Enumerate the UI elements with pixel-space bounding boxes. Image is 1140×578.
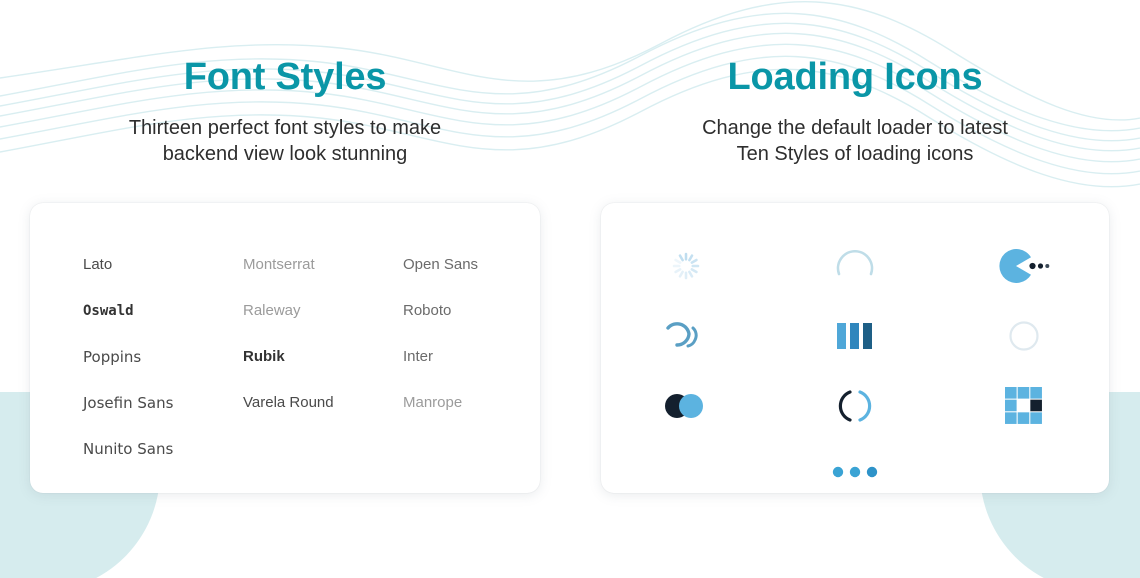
font-styles-card: Lato Montserrat Open Sans Oswald Raleway… <box>30 203 540 493</box>
font-item-montserrat[interactable]: Montserrat <box>243 256 403 273</box>
font-item-nunito-sans[interactable]: Nunito Sans <box>83 440 243 458</box>
two-circles-loader-icon[interactable] <box>656 376 716 436</box>
three-dots-loader-icon[interactable] <box>825 442 885 502</box>
font-item-varela-round[interactable]: Varela Round <box>243 394 403 411</box>
subtitle-line-1: Change the default loader to latest <box>702 117 1008 139</box>
font-item-rubik[interactable]: Rubik <box>243 348 403 365</box>
loading-icons-grid <box>601 231 1109 441</box>
arc-ring-spinner-icon[interactable] <box>825 236 885 296</box>
panel-subtitle-font-styles: Thirteen perfect font styles to make bac… <box>129 115 441 168</box>
subtitle-line-2: backend view look stunning <box>163 143 408 165</box>
font-item-lato[interactable]: Lato <box>83 256 243 273</box>
panel-font-styles: Font Styles Thirteen perfect font styles… <box>0 0 570 578</box>
grid-blocks-loader-icon[interactable] <box>994 376 1054 436</box>
subtitle-line-1: Thirteen perfect font styles to make <box>129 117 441 139</box>
font-item-open-sans[interactable]: Open Sans <box>403 256 543 273</box>
thin-circle-loader-icon[interactable] <box>994 306 1054 366</box>
facing-brackets-loader-icon[interactable] <box>825 376 885 436</box>
panel-loading-icons: Loading Icons Change the default loader … <box>570 0 1140 578</box>
page-title-loading-icons: Loading Icons <box>728 58 983 96</box>
panel-subtitle-loading-icons: Change the default loader to latest Ten … <box>702 115 1008 168</box>
radial-tick-spinner-icon[interactable] <box>656 236 716 296</box>
font-item-inter[interactable]: Inter <box>403 348 543 365</box>
three-bars-loader-icon[interactable] <box>825 306 885 366</box>
loading-icons-last-row <box>601 441 1109 503</box>
font-item-josefin-sans[interactable]: Josefin Sans <box>83 394 243 412</box>
pacman-dots-loader-icon[interactable] <box>994 236 1054 296</box>
font-item-oswald[interactable]: Oswald <box>83 303 243 319</box>
font-styles-grid: Lato Montserrat Open Sans Oswald Raleway… <box>83 242 540 472</box>
subtitle-line-2: Ten Styles of loading icons <box>737 143 974 165</box>
page-title-font-styles: Font Styles <box>184 58 387 96</box>
font-item-manrope[interactable]: Manrope <box>403 394 543 411</box>
dual-arc-spinner-icon[interactable] <box>656 306 716 366</box>
font-item-poppins[interactable]: Poppins <box>83 348 243 366</box>
font-item-roboto[interactable]: Roboto <box>403 302 543 319</box>
font-item-raleway[interactable]: Raleway <box>243 302 403 319</box>
page-root: Font Styles Thirteen perfect font styles… <box>0 0 1140 578</box>
loading-icons-card <box>601 203 1109 493</box>
